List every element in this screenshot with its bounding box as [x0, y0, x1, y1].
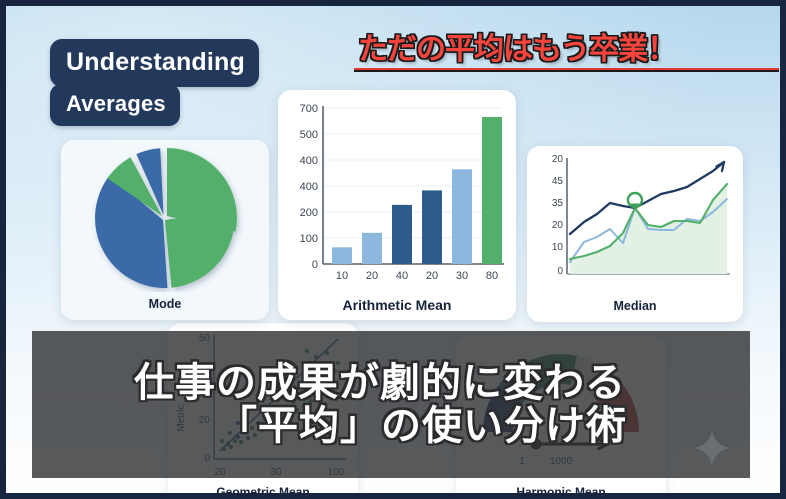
svg-text:20: 20	[552, 154, 564, 165]
headline-underline	[354, 68, 779, 72]
y-tick-labels: 700 500 400 400 200 100 0	[300, 103, 318, 271]
svg-text:35: 35	[552, 198, 564, 209]
bottom-overlay-panel: 仕事の成果が劇的に変わる 「平均」の使い分け術	[32, 331, 750, 478]
title-line-1: Understanding	[50, 39, 259, 87]
overlay-line-1: 仕事の成果が劇的に変わる	[10, 361, 750, 404]
svg-text:500: 500	[300, 129, 318, 141]
svg-text:700: 700	[300, 103, 318, 115]
page-title: Understanding Averages	[50, 39, 259, 126]
line-chart-median: 20 45 35 20 10 0	[527, 146, 743, 294]
image-frame: Understanding Averages ただの平均はもう卒業！	[0, 0, 786, 499]
svg-text:10: 10	[336, 270, 348, 282]
svg-text:20: 20	[552, 220, 564, 231]
card-label-mode: Mode	[61, 297, 269, 311]
svg-text:400: 400	[300, 181, 318, 193]
card-arithmetic-mean: 700 500 400 400 200 100 0 10 20	[278, 90, 516, 320]
headline-text: ただの平均はもう卒業！	[358, 24, 676, 68]
svg-text:0: 0	[557, 266, 563, 277]
svg-text:200: 200	[300, 207, 318, 219]
card-mode: Mode	[61, 140, 269, 320]
svg-text:45: 45	[552, 176, 564, 187]
card-label-median: Median	[527, 299, 743, 313]
pie-chart-mode	[61, 140, 269, 292]
svg-text:0: 0	[312, 259, 318, 271]
overlay-line-2: 「平均」の使い分け術	[94, 405, 750, 448]
svg-text:10: 10	[552, 242, 564, 253]
svg-text:20: 20	[426, 270, 438, 282]
svg-text:400: 400	[300, 155, 318, 167]
bars	[332, 117, 502, 264]
y-tick-labels: 20 45 35 20 10 0	[552, 154, 564, 277]
card-label-harmonic-mean: Harmonic Mean	[456, 485, 666, 493]
svg-text:40: 40	[396, 270, 408, 282]
card-label-arithmetic-mean: Arithmetic Mean	[278, 297, 516, 313]
x-tick-labels: 10 20 40 20 30 80	[336, 270, 498, 282]
overlay-text-block: 仕事の成果が劇的に変わる 「平均」の使い分け術	[32, 361, 750, 447]
card-label-geometric-mean: Geometric Mean	[168, 485, 358, 493]
svg-text:30: 30	[456, 270, 468, 282]
svg-text:100: 100	[300, 233, 318, 245]
gridlines	[324, 108, 502, 238]
bar-chart-arithmetic-mean: 700 500 400 400 200 100 0 10 20	[278, 90, 516, 286]
svg-text:80: 80	[486, 270, 498, 282]
svg-text:20: 20	[366, 270, 378, 282]
title-line-2: Averages	[50, 84, 180, 126]
card-median: 20 45 35 20 10 0 Median	[527, 146, 743, 322]
infographic-canvas: Understanding Averages ただの平均はもう卒業！	[6, 6, 780, 493]
